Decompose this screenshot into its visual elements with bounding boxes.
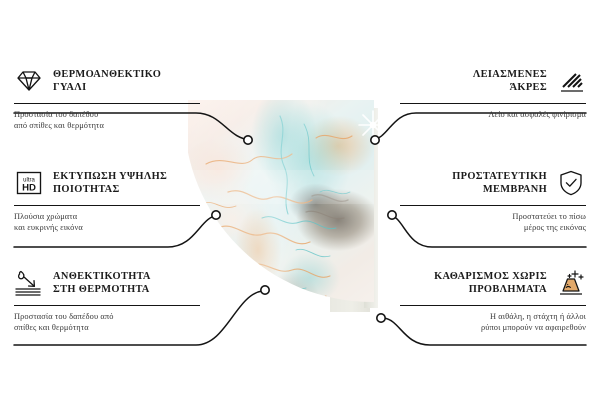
marble-print-surface bbox=[188, 100, 374, 320]
hd-label: HD bbox=[22, 182, 36, 193]
feature-title: ΚΑΘΑΡΙΣΜΟΣ ΧΩΡΙΣΠΡΟΒΛΗΜΑΤΑ bbox=[434, 270, 547, 297]
feature-title: ΛΕΙΑΣΜΕΝΕΣΆΚΡΕΣ bbox=[473, 68, 547, 95]
feature-easy-cleaning[interactable]: ΚΑΘΑΡΙΣΜΟΣ ΧΩΡΙΣΠΡΟΒΛΗΜΑΤΑ Η αιθάλη, η σ… bbox=[400, 266, 586, 334]
feature-title: ΕΚΤΥΠΩΣΗ ΥΨΗΛΗΣΠΟΙΟΤΗΤΑΣ bbox=[53, 170, 167, 197]
feature-subtitle: Προστασία του δαπέδου απόσπίθες και θερμ… bbox=[14, 311, 200, 334]
feature-heat-resistant-glass[interactable]: ΘΕΡΜΟΑΝΘΕΚΤΙΚΟΓΥΑΛΙ Προστασία του δαπέδο… bbox=[14, 64, 200, 132]
feature-subtitle: Η αιθάλη, η στάχτη ή άλλοιρύποι μπορούν … bbox=[400, 311, 586, 334]
feature-header: ΑΝΘΕΚΤΙΚΟΤΗΤΑΣΤΗ ΘΕΡΜΟΤΗΤΑ bbox=[14, 266, 200, 300]
divider bbox=[14, 205, 200, 206]
divider bbox=[400, 103, 586, 104]
feature-title: ΠΡΟΣΤΑΤΕΥΤΙΚΗΜΕΜΒΡΑΝΗ bbox=[452, 170, 547, 197]
ultra-hd-icon: ultra HD bbox=[14, 168, 44, 198]
feature-header: ΛΕΙΑΣΜΕΝΕΣΆΚΡΕΣ bbox=[400, 64, 586, 98]
feature-protective-membrane[interactable]: ΠΡΟΣΤΑΤΕΥΤΙΚΗΜΕΜΒΡΑΝΗ Προστατεύει το πίσ… bbox=[400, 166, 586, 234]
sparkle-clean-icon bbox=[556, 268, 586, 298]
feature-header: ΘΕΡΜΟΑΝΘΕΚΤΙΚΟΓΥΑΛΙ bbox=[14, 64, 200, 98]
divider bbox=[400, 205, 586, 206]
divider bbox=[14, 305, 200, 306]
feature-subtitle: Πλούσια χρώματακαι ευκρινής εικόνα bbox=[14, 211, 200, 234]
feature-title: ΘΕΡΜΟΑΝΘΕΚΤΙΚΟΓΥΑΛΙ bbox=[53, 68, 161, 95]
fan-panel-clip bbox=[188, 100, 374, 320]
infographic-canvas: ΘΕΡΜΟΑΝΘΕΚΤΙΚΟΓΥΑΛΙ Προστασία του δαπέδο… bbox=[0, 0, 600, 400]
diamond-icon bbox=[14, 66, 44, 96]
feature-subtitle: Προστασία του δαπέδουαπό σπίθες και θερμ… bbox=[14, 109, 200, 132]
divider bbox=[400, 305, 586, 306]
shield-check-icon bbox=[556, 168, 586, 198]
divider bbox=[14, 103, 200, 104]
feature-title: ΑΝΘΕΚΤΙΚΟΤΗΤΑΣΤΗ ΘΕΡΜΟΤΗΤΑ bbox=[53, 270, 151, 297]
feature-heat-durability[interactable]: ΑΝΘΕΚΤΙΚΟΤΗΤΑΣΤΗ ΘΕΡΜΟΤΗΤΑ Προστασία του… bbox=[14, 266, 200, 334]
flame-deflect-icon bbox=[14, 268, 44, 298]
feature-subtitle: Προστατεύει το πίσωμέρος της εικόνας bbox=[400, 211, 586, 234]
feature-subtitle: Λείο και ασφαλές φινίρισμα bbox=[400, 109, 586, 120]
feature-high-quality-print[interactable]: ultra HD ΕΚΤΥΠΩΣΗ ΥΨΗΛΗΣΠΟΙΟΤΗΤΑΣ Πλούσι… bbox=[14, 166, 200, 234]
feature-header: ΚΑΘΑΡΙΣΜΟΣ ΧΩΡΙΣΠΡΟΒΛΗΜΑΤΑ bbox=[400, 266, 586, 300]
product-image bbox=[188, 100, 420, 320]
feature-header: ΠΡΟΣΤΑΤΕΥΤΙΚΗΜΕΜΒΡΑΝΗ bbox=[400, 166, 586, 200]
diagonal-hatch-icon bbox=[556, 66, 586, 96]
marble-veins bbox=[188, 100, 374, 320]
feature-header: ultra HD ΕΚΤΥΠΩΣΗ ΥΨΗΛΗΣΠΟΙΟΤΗΤΑΣ bbox=[14, 166, 200, 200]
feature-polished-edges[interactable]: ΛΕΙΑΣΜΕΝΕΣΆΚΡΕΣ Λείο και ασφαλές φινίρισ… bbox=[400, 64, 586, 120]
